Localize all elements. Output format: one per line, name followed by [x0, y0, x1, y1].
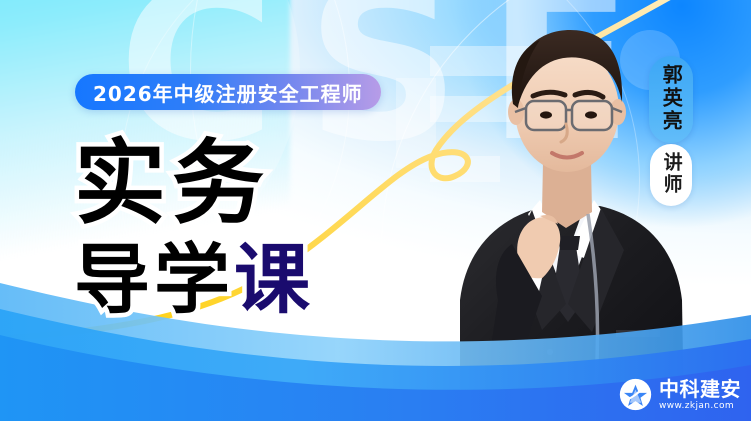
brand-url: www.zkjan.com — [659, 402, 741, 411]
brand-logo[interactable]: 中科建安 www.zkjan.com — [619, 378, 741, 411]
course-category-banner: 2026年中级注册安全工程师 — [75, 74, 381, 110]
page-subtitle-lead: 导学 — [74, 235, 234, 324]
brand-text: 中科建安 www.zkjan.com — [659, 379, 741, 411]
page-subtitle: 导学课 — [74, 242, 314, 318]
course-promo-poster: CSE — [0, 0, 751, 421]
brand-name: 中科建安 — [659, 379, 741, 399]
zkjan-circle-star-logo-icon — [619, 378, 652, 411]
page-subtitle-accent: 课 — [234, 235, 314, 324]
instructor-name-badge: 郭英亮 — [649, 56, 693, 143]
page-title: 实务 — [74, 138, 270, 230]
instructor-role-badge: 讲师 — [650, 144, 692, 206]
